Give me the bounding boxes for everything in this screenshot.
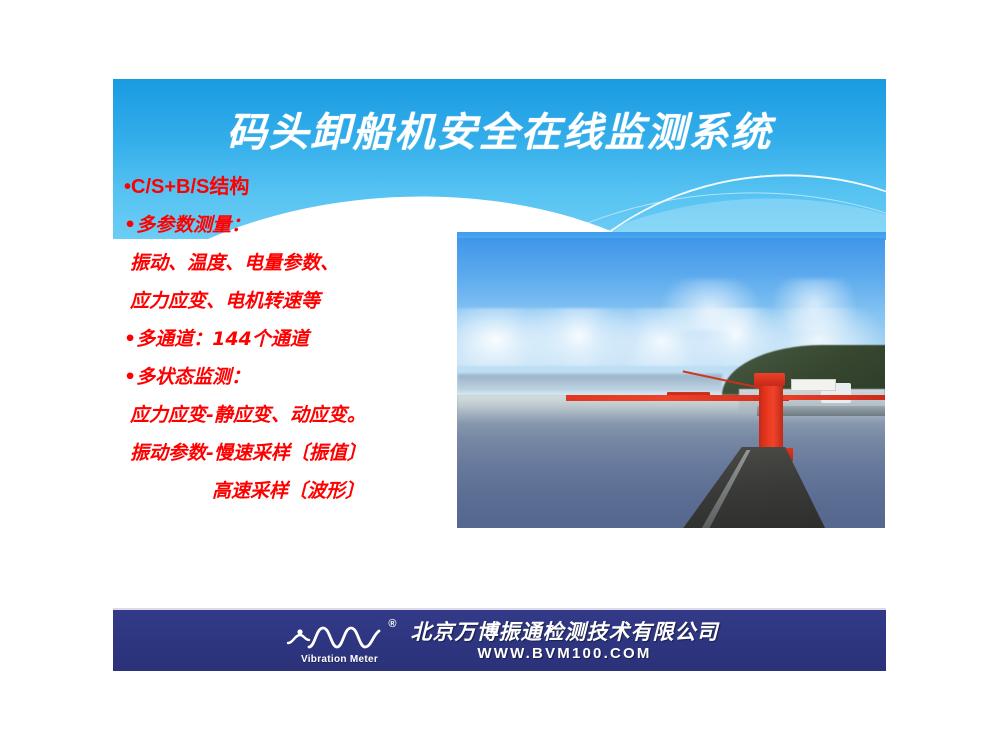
- photo-crane-machine-house: [754, 373, 785, 386]
- company-identity: 北京万博振通检测技术有限公司 WWW.BVM100.COM: [411, 620, 719, 662]
- list-item: •多通道：144个通道: [124, 320, 474, 358]
- footer-bar: ® Vibration Meter 北京万博振通检测技术有限公司 WWW.BVM…: [113, 608, 886, 671]
- page-title: 码头卸船机安全在线监测系统: [113, 100, 886, 158]
- list-item: •C/S+B/S结构: [124, 168, 474, 206]
- list-item: 应力应变、电机转速等: [124, 282, 474, 320]
- list-item: 振动参数-慢速采样〔振值〕: [124, 434, 474, 472]
- company-name: 北京万博振通检测技术有限公司: [411, 620, 719, 644]
- list-item: 应力应变-静应变、动应变。: [124, 396, 474, 434]
- list-item: 高速采样〔波形〕: [124, 472, 474, 510]
- company-website[interactable]: WWW.BVM100.COM: [477, 645, 651, 662]
- list-item: •多状态监测：: [124, 358, 474, 396]
- slide-canvas: 码头卸船机安全在线监测系统 •C/S+B/S结构 •多参数测量： 振动、温度、电…: [0, 0, 1000, 750]
- photo-crane-sign: [791, 379, 836, 391]
- photo-crane-boom-right: [765, 395, 885, 400]
- logo-subtitle: Vibration Meter: [301, 654, 378, 665]
- vibration-meter-waveform-icon: ®: [285, 623, 395, 653]
- list-item: •多参数测量：: [124, 206, 474, 244]
- bullet-list: •C/S+B/S结构 •多参数测量： 振动、温度、电量参数、 应力应变、电机转速…: [124, 168, 474, 510]
- registered-trademark-icon: ®: [388, 619, 396, 630]
- brand-logo: ® Vibration Meter: [281, 617, 399, 665]
- dock-unloader-photo: [457, 238, 885, 528]
- footer-content: ® Vibration Meter 北京万博振通检测技术有限公司 WWW.BVM…: [113, 610, 886, 671]
- list-item: 振动、温度、电量参数、: [124, 244, 474, 282]
